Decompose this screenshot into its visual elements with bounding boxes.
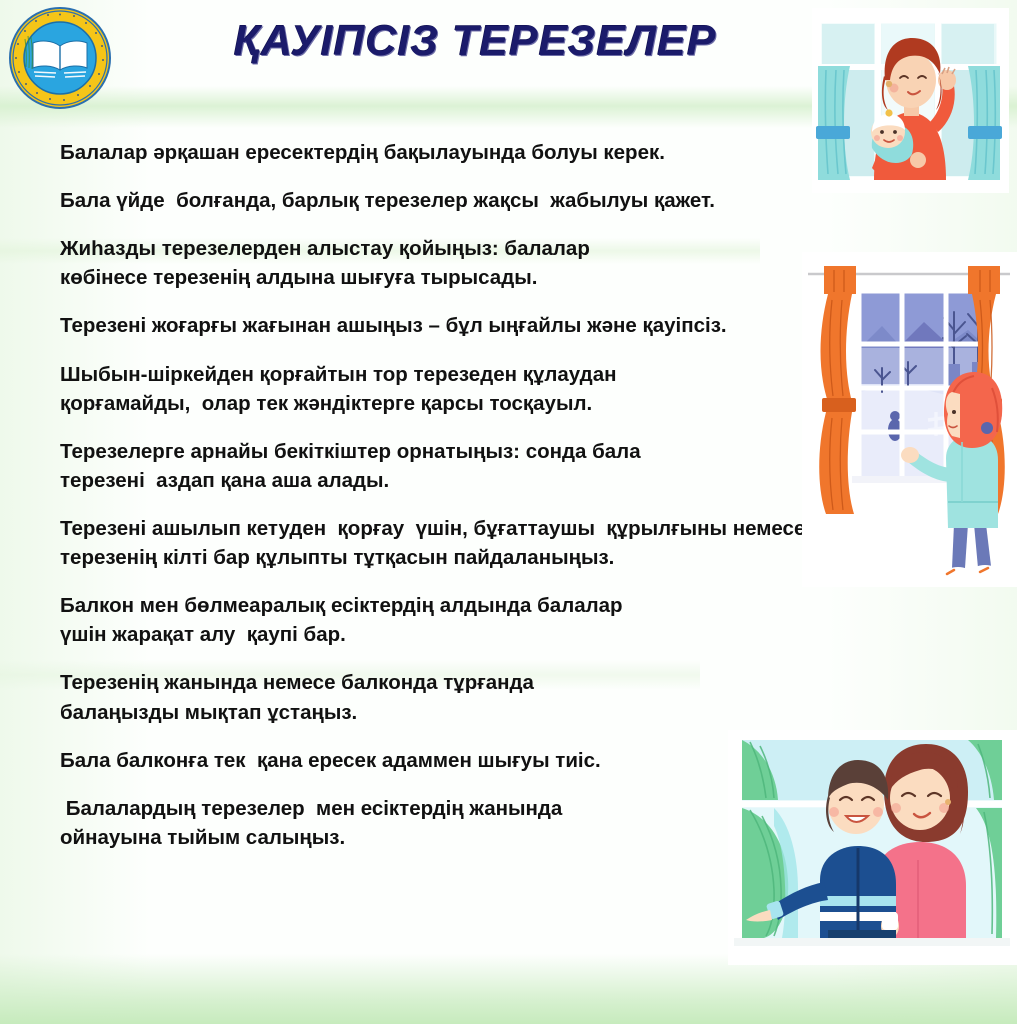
safety-poster: ҚАУІПСІЗ ТЕРЕЗЕЛЕР Балалар әрқашан ересе… (0, 0, 1017, 1024)
ministry-of-education-emblem (8, 6, 112, 110)
safety-rule-1: Балалар әрқашан ересектердің бақылауында… (60, 138, 940, 167)
safety-rule-2: Бала үйде болғанда, барлық терезелер жақ… (60, 186, 940, 215)
safety-rule-8: Балкон мен бөлмеаралық есіктердің алдынд… (60, 591, 940, 649)
mother-holding-baby-at-window-illustration (812, 8, 1009, 193)
mother-holding-boy-pointing-at-window-illustration (728, 730, 1017, 965)
page-title: ҚАУІПСІЗ ТЕРЕЗЕЛЕР (150, 17, 800, 66)
safety-rule-9: Терезенің жанында немесе балконда тұрған… (60, 668, 940, 726)
girl-looking-out-winter-window-illustration (802, 252, 1017, 587)
